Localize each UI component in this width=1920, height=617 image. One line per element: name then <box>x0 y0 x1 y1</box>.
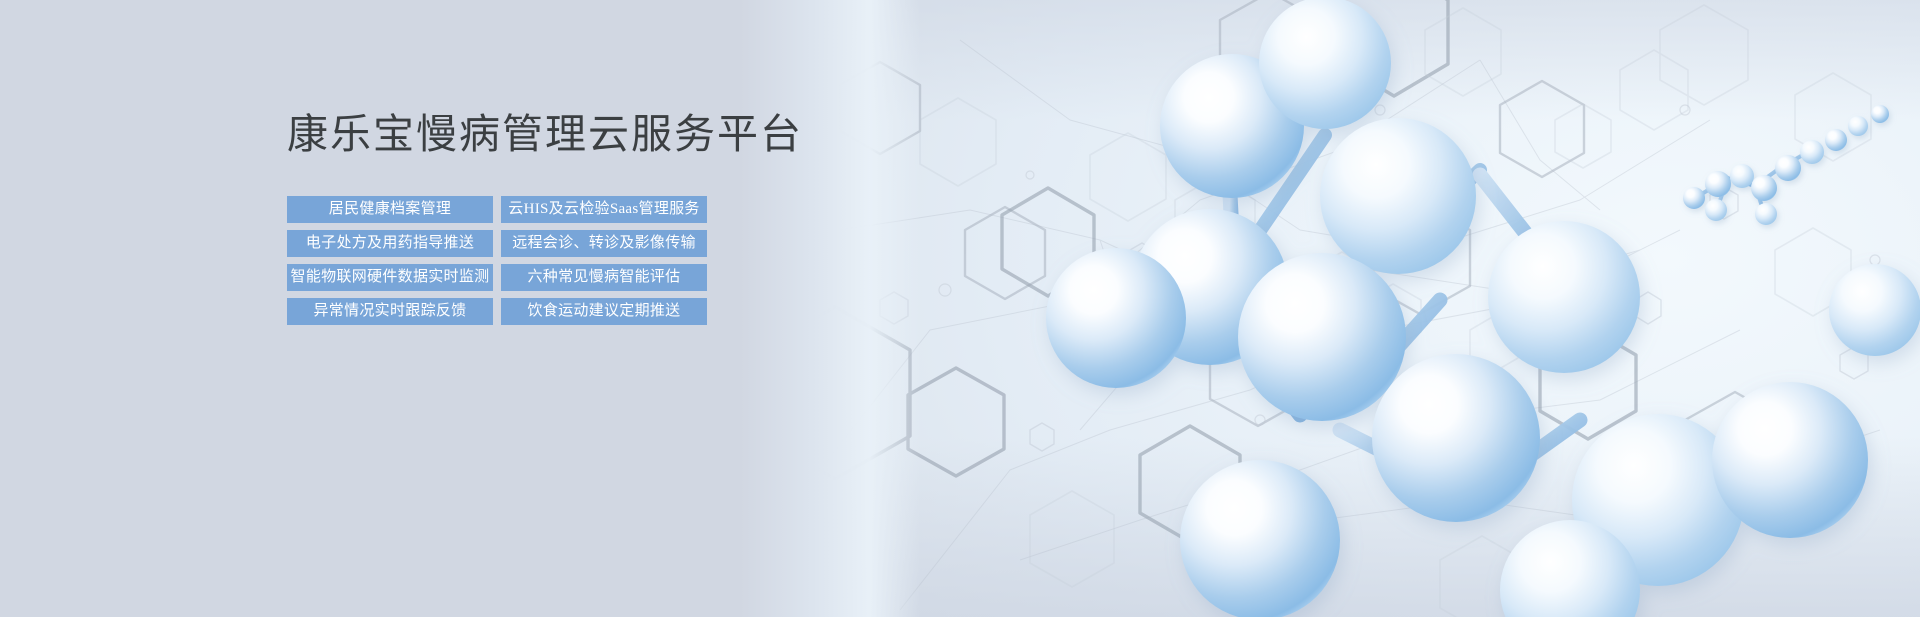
feature-item-resident-health-records[interactable]: 居民健康档案管理 <box>287 196 493 223</box>
feature-grid: 居民健康档案管理 云HIS及云检验Saas管理服务 电子处方及用药指导推送 远程… <box>287 196 717 325</box>
feature-item-iot-realtime-monitoring[interactable]: 智能物联网硬件数据实时监测 <box>287 264 493 291</box>
feature-item-cloud-his-lab-saas[interactable]: 云HIS及云检验Saas管理服务 <box>501 196 707 223</box>
feature-item-anomaly-tracking[interactable]: 异常情况实时跟踪反馈 <box>287 298 493 325</box>
page-title: 康乐宝慢病管理云服务平台 <box>287 110 717 159</box>
hero-banner: 康乐宝慢病管理云服务平台 居民健康档案管理 云HIS及云检验Saas管理服务 电… <box>0 0 1920 617</box>
feature-item-remote-consultation[interactable]: 远程会诊、转诊及影像传输 <box>501 230 707 257</box>
feature-item-diet-exercise-advice[interactable]: 饮食运动建议定期推送 <box>501 298 707 325</box>
feature-item-chronic-disease-assessment[interactable]: 六种常见慢病智能评估 <box>501 264 707 291</box>
hero-content: 康乐宝慢病管理云服务平台 居民健康档案管理 云HIS及云检验Saas管理服务 电… <box>287 110 717 325</box>
molecule-sphere-cluster <box>780 0 1920 617</box>
feature-item-e-prescription-guidance[interactable]: 电子处方及用药指导推送 <box>287 230 493 257</box>
